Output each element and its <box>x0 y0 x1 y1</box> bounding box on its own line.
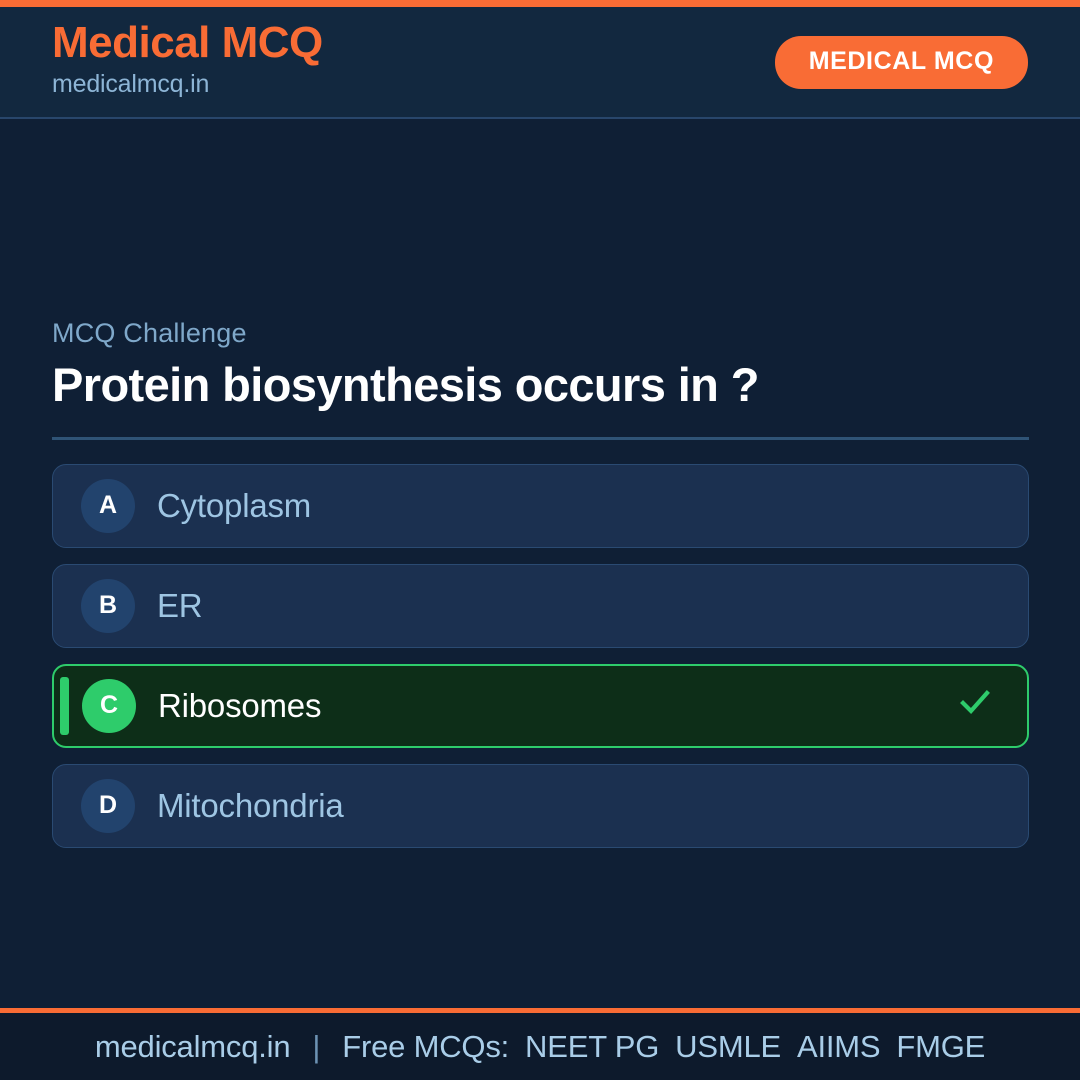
footer-exam-aiims[interactable]: AIIMS <box>781 1029 880 1065</box>
option-d[interactable]: D Mitochondria <box>52 764 1029 848</box>
option-b-badge: B <box>81 579 135 633</box>
page-header: Medical MCQ medicalmcq.in MEDICAL MCQ <box>0 7 1080 119</box>
option-a-badge: A <box>81 479 135 533</box>
option-d-badge: D <box>81 779 135 833</box>
check-icon <box>955 682 995 729</box>
footer-label: Free MCQs: <box>342 1029 509 1065</box>
question-text: Protein biosynthesis occurs in ? <box>52 357 1029 412</box>
question-zone: MCQ Challenge Protein biosynthesis occur… <box>52 317 1029 848</box>
top-accent-bar <box>0 0 1080 7</box>
question-kicker: MCQ Challenge <box>52 317 1029 349</box>
option-a-label: Cytoplasm <box>157 488 1000 524</box>
option-d-label: Mitochondria <box>157 788 1000 824</box>
question-divider <box>52 437 1029 440</box>
footer-inner: medicalmcq.in | Free MCQs: NEET PG USMLE… <box>95 1029 985 1065</box>
page-footer: medicalmcq.in | Free MCQs: NEET PG USMLE… <box>0 1008 1080 1080</box>
option-b[interactable]: B ER <box>52 564 1029 648</box>
option-b-label: ER <box>157 588 1000 624</box>
footer-exam-neetpg[interactable]: NEET PG <box>509 1029 659 1065</box>
mcq-card: Medical MCQ medicalmcq.in MEDICAL MCQ MC… <box>0 0 1080 1080</box>
brand-title: Medical MCQ <box>52 21 323 66</box>
option-c-label: Ribosomes <box>158 688 955 724</box>
correct-accent-bar <box>60 677 69 735</box>
option-c[interactable]: C Ribosomes <box>52 664 1029 748</box>
option-a[interactable]: A Cytoplasm <box>52 464 1029 548</box>
option-c-badge: C <box>82 679 136 733</box>
option-list: A Cytoplasm B ER C Ribosomes <box>52 464 1029 848</box>
brand-subtitle: medicalmcq.in <box>52 66 323 104</box>
brand-block: Medical MCQ medicalmcq.in <box>52 21 323 103</box>
main-content: MCQ Challenge Protein biosynthesis occur… <box>0 119 1080 1008</box>
header-badge: MEDICAL MCQ <box>775 36 1028 89</box>
footer-exam-fmge[interactable]: FMGE <box>880 1029 985 1065</box>
footer-separator: | <box>290 1029 342 1065</box>
footer-exam-usmle[interactable]: USMLE <box>659 1029 781 1065</box>
footer-site[interactable]: medicalmcq.in <box>95 1029 291 1065</box>
